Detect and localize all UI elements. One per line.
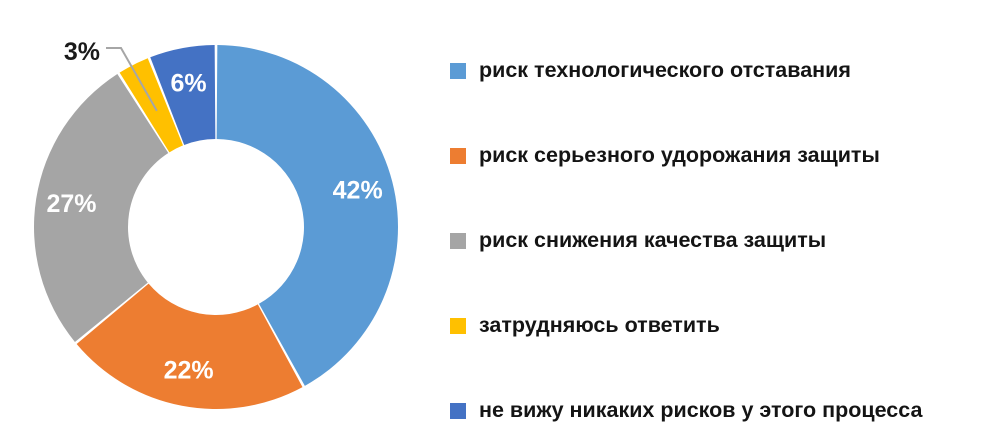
- legend-item[interactable]: затрудняюсь ответить: [450, 314, 720, 338]
- slice-data-label: 3%: [64, 38, 100, 66]
- legend-color-swatch-icon: [450, 233, 466, 249]
- legend-item-label: не вижу никаких рисков у этого процесса: [479, 400, 922, 422]
- slice-data-label: 22%: [164, 357, 214, 385]
- donut-chart-figure: 42%22%27%3%6% риск технологического отст…: [0, 0, 996, 446]
- legend-item[interactable]: риск серьезного удорожания защиты: [450, 144, 880, 168]
- legend-color-swatch-icon: [450, 318, 466, 334]
- donut-plot-area: 42%22%27%3%6%: [0, 0, 440, 446]
- slice-data-label: 27%: [46, 190, 96, 218]
- legend-item[interactable]: риск технологического отставания: [450, 59, 851, 83]
- donut-slices-group: [34, 45, 398, 409]
- legend-item-label: риск технологического отставания: [479, 60, 851, 82]
- legend-color-swatch-icon: [450, 403, 466, 419]
- slice-data-label: 42%: [333, 177, 383, 205]
- donut-svg: 42%22%27%3%6%: [0, 0, 440, 446]
- legend-color-swatch-icon: [450, 148, 466, 164]
- legend-item-label: затрудняюсь ответить: [479, 315, 720, 337]
- legend-item-label: риск снижения качества защиты: [479, 230, 826, 252]
- legend-color-swatch-icon: [450, 63, 466, 79]
- legend-item-label: риск серьезного удорожания защиты: [479, 145, 880, 167]
- slice-data-label: 6%: [171, 69, 207, 97]
- chart-legend: риск технологического отставанияриск сер…: [450, 0, 996, 446]
- legend-item[interactable]: риск снижения качества защиты: [450, 229, 826, 253]
- legend-item[interactable]: не вижу никаких рисков у этого процесса: [450, 399, 922, 423]
